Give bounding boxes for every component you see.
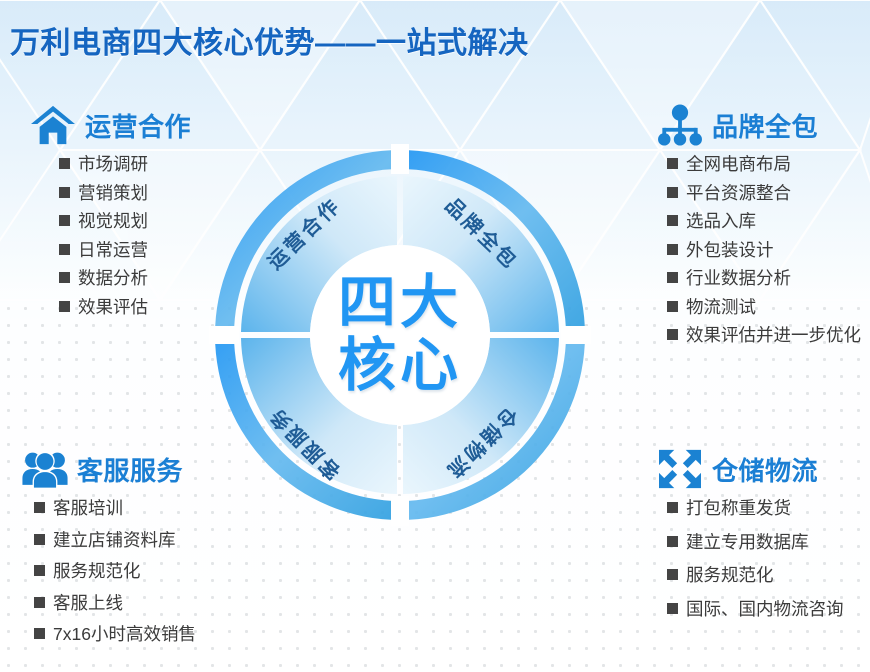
block-brand-list: 全网电商布局 平台资源整合 选品入库 外包装设计 行业数据分析 物流测试 效果评… (657, 156, 861, 345)
bullet-square (59, 272, 70, 283)
bullet-square (667, 569, 678, 580)
block-warehouse-logistics-list: 打包称重发货 建立专用数据库 服务规范化 国际、国内物流咨询 (657, 500, 844, 618)
list-item: 平台资源整合 (667, 185, 861, 203)
bullet-square (34, 628, 45, 639)
bullet-square (59, 158, 70, 169)
list-item: 全网电商布局 (667, 156, 861, 174)
block-customer-service-list: 客服培训 建立店铺资料库 服务规范化 客服上线 7x16小时高效销售 (22, 500, 196, 644)
donut-svg (205, 140, 595, 530)
list-item: 客服培训 (34, 500, 196, 518)
list-item: 服务规范化 (34, 563, 196, 581)
bullet-square (59, 301, 70, 312)
block-warehouse-logistics: 仓储物流 打包称重发货 建立专用数据库 服务规范化 国际、国内物流咨询 (657, 448, 844, 634)
block-brand-header: 品牌全包 (657, 104, 861, 146)
list-item-label: 外包装设计 (686, 242, 774, 260)
list-item-label: 国际、国内物流咨询 (686, 601, 844, 619)
list-item: 7x16小时高效销售 (34, 626, 196, 644)
list-item: 物流测试 (667, 299, 861, 317)
people-group-icon (22, 448, 68, 490)
bullet-square (34, 597, 45, 608)
list-item-label: 物流测试 (686, 299, 756, 317)
list-item: 客服上线 (34, 595, 196, 613)
block-warehouse-logistics-header: 仓储物流 (657, 448, 844, 490)
list-item: 行业数据分析 (667, 270, 861, 288)
list-item: 效果评估 (59, 299, 191, 317)
block-brand-title: 品牌全包 (712, 107, 818, 144)
bullet-square (667, 329, 678, 340)
infographic-canvas: 万利电商四大核心优势——一站式解决 (0, 0, 870, 672)
list-item-label: 市场调研 (78, 156, 148, 174)
list-item: 建立专用数据库 (667, 534, 844, 552)
list-item-label: 建立专用数据库 (686, 534, 809, 552)
page-title: 万利电商四大核心优势——一站式解决 (10, 18, 529, 62)
donut-inner-disc (310, 245, 490, 425)
bullet-square (667, 187, 678, 198)
bullet-square (34, 565, 45, 576)
four-arrows-expand-icon (657, 448, 703, 490)
list-item: 国际、国内物流咨询 (667, 601, 844, 619)
list-item-label: 7x16小时高效销售 (53, 626, 196, 644)
block-operations-list: 市场调研 营销策划 视觉规划 日常运营 数据分析 效果评估 (30, 156, 191, 316)
list-item-label: 全网电商布局 (686, 156, 791, 174)
list-item: 数据分析 (59, 270, 191, 288)
block-operations-header: 运营合作 (30, 104, 191, 146)
core-donut-diagram: 运营合作 品牌全包 客服服务 仓储物流 四大 核心 (205, 140, 595, 530)
block-customer-service-title: 客服服务 (77, 451, 183, 488)
bullet-square (59, 215, 70, 226)
bullet-square (667, 301, 678, 312)
list-item-label: 打包称重发货 (686, 500, 791, 518)
bullet-square (667, 272, 678, 283)
list-item: 打包称重发货 (667, 500, 844, 518)
block-warehouse-logistics-title: 仓储物流 (712, 451, 818, 488)
list-item: 效果评估并进一步优化 (667, 327, 861, 345)
bullet-square (34, 534, 45, 545)
list-item: 市场调研 (59, 156, 191, 174)
bullet-square (34, 502, 45, 513)
block-customer-service: 客服服务 客服培训 建立店铺资料库 服务规范化 客服上线 7x16小时高效销售 (22, 448, 196, 658)
list-item: 视觉规划 (59, 213, 191, 231)
home-icon (30, 104, 76, 146)
list-item-label: 日常运营 (78, 242, 148, 260)
list-item-label: 服务规范化 (53, 563, 141, 581)
list-item-label: 视觉规划 (78, 213, 148, 231)
list-item: 服务规范化 (667, 567, 844, 585)
list-item: 日常运营 (59, 242, 191, 260)
list-item: 外包装设计 (667, 242, 861, 260)
list-item-label: 建立店铺资料库 (53, 532, 176, 550)
list-item-label: 服务规范化 (686, 567, 774, 585)
list-item-label: 效果评估并进一步优化 (686, 327, 861, 345)
list-item-label: 营销策划 (78, 185, 148, 203)
org-chart-icon (657, 104, 703, 146)
list-item: 建立店铺资料库 (34, 532, 196, 550)
bullet-square (667, 244, 678, 255)
block-customer-service-header: 客服服务 (22, 448, 196, 490)
block-operations-title: 运营合作 (85, 107, 191, 144)
bullet-square (667, 502, 678, 513)
bullet-square (59, 244, 70, 255)
block-brand: 品牌全包 全网电商布局 平台资源整合 选品入库 外包装设计 行业数据分析 物流测… (657, 104, 861, 356)
bullet-square (667, 158, 678, 169)
list-item-label: 行业数据分析 (686, 270, 791, 288)
list-item-label: 数据分析 (78, 270, 148, 288)
block-operations: 运营合作 市场调研 营销策划 视觉规划 日常运营 数据分析 效果评估 (30, 104, 191, 327)
bullet-square (667, 536, 678, 547)
list-item-label: 平台资源整合 (686, 185, 791, 203)
list-item-label: 客服培训 (53, 500, 123, 518)
list-item-label: 效果评估 (78, 299, 148, 317)
list-item-label: 客服上线 (53, 595, 123, 613)
bullet-square (59, 187, 70, 198)
bullet-square (667, 215, 678, 226)
list-item-label: 选品入库 (686, 213, 756, 231)
list-item: 营销策划 (59, 185, 191, 203)
bullet-square (667, 603, 678, 614)
list-item: 选品入库 (667, 213, 861, 231)
